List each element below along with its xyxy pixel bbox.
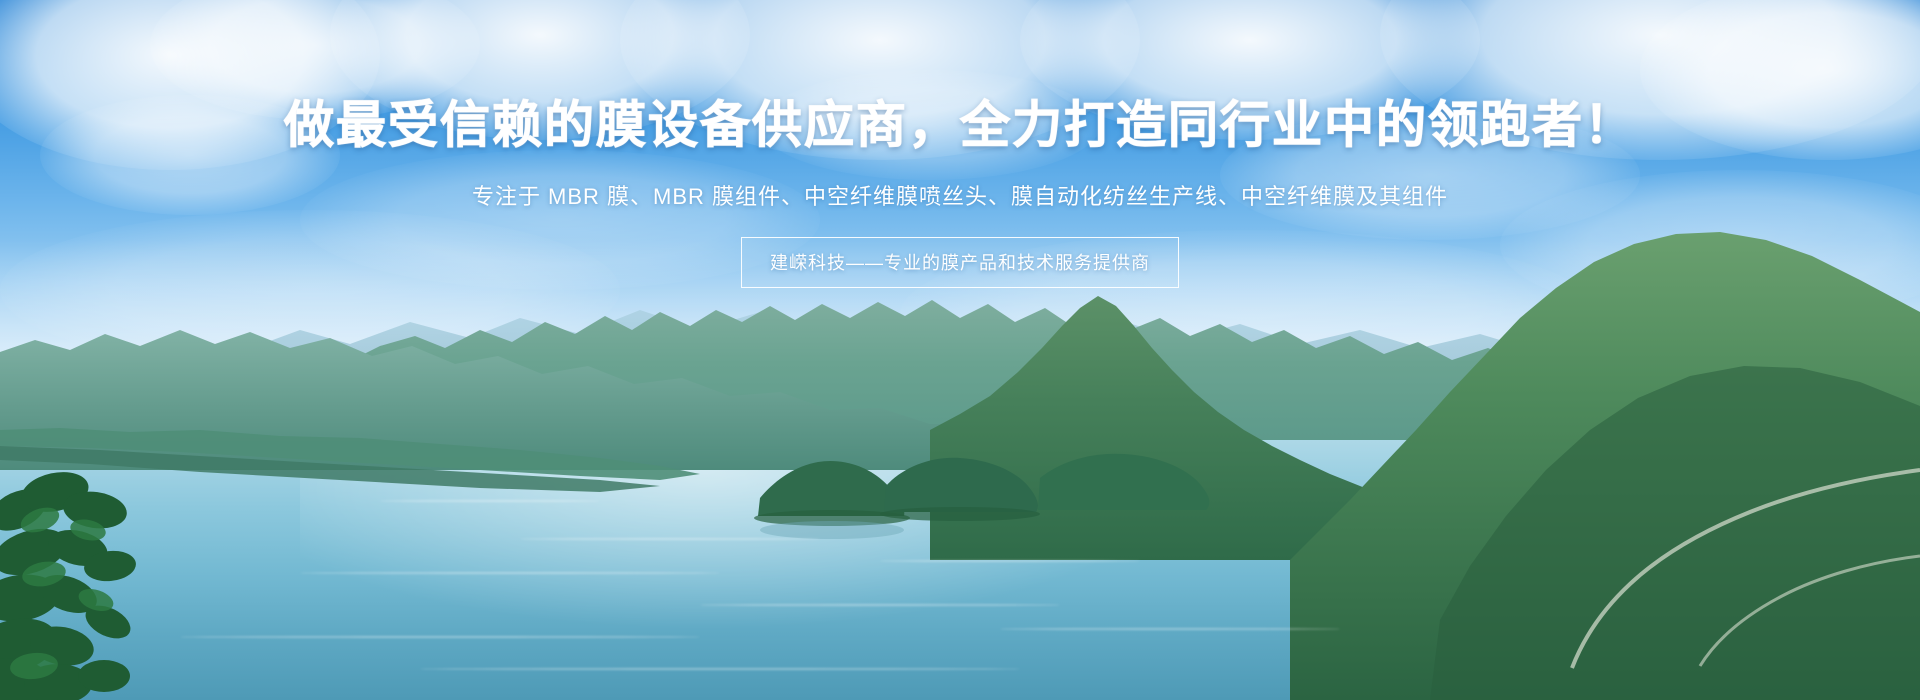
water-ripple bbox=[520, 538, 820, 540]
banner-text-block: 做最受信赖的膜设备供应商，全力打造同行业中的领跑者！ 专注于 MBR 膜、MBR… bbox=[0, 0, 1920, 288]
water-ripple bbox=[180, 636, 700, 638]
water-ripple bbox=[700, 604, 1060, 606]
water-ripple bbox=[420, 668, 1020, 670]
water-ripple bbox=[300, 572, 720, 574]
water-ripple bbox=[880, 560, 1140, 562]
tagline-container: 建嵘科技——专业的膜产品和技术服务提供商 bbox=[0, 211, 1920, 288]
page-title: 做最受信赖的膜设备供应商，全力打造同行业中的领跑者！ bbox=[0, 0, 1920, 153]
water-ripple bbox=[1000, 628, 1340, 630]
tagline-badge: 建嵘科技——专业的膜产品和技术服务提供商 bbox=[741, 237, 1179, 288]
water-ripple bbox=[380, 500, 600, 502]
banner-subtitle: 专注于 MBR 膜、MBR 膜组件、中空纤维膜喷丝头、膜自动化纺丝生产线、中空纤… bbox=[0, 153, 1920, 211]
hero-banner: 做最受信赖的膜设备供应商，全力打造同行业中的领跑者！ 专注于 MBR 膜、MBR… bbox=[0, 0, 1920, 700]
